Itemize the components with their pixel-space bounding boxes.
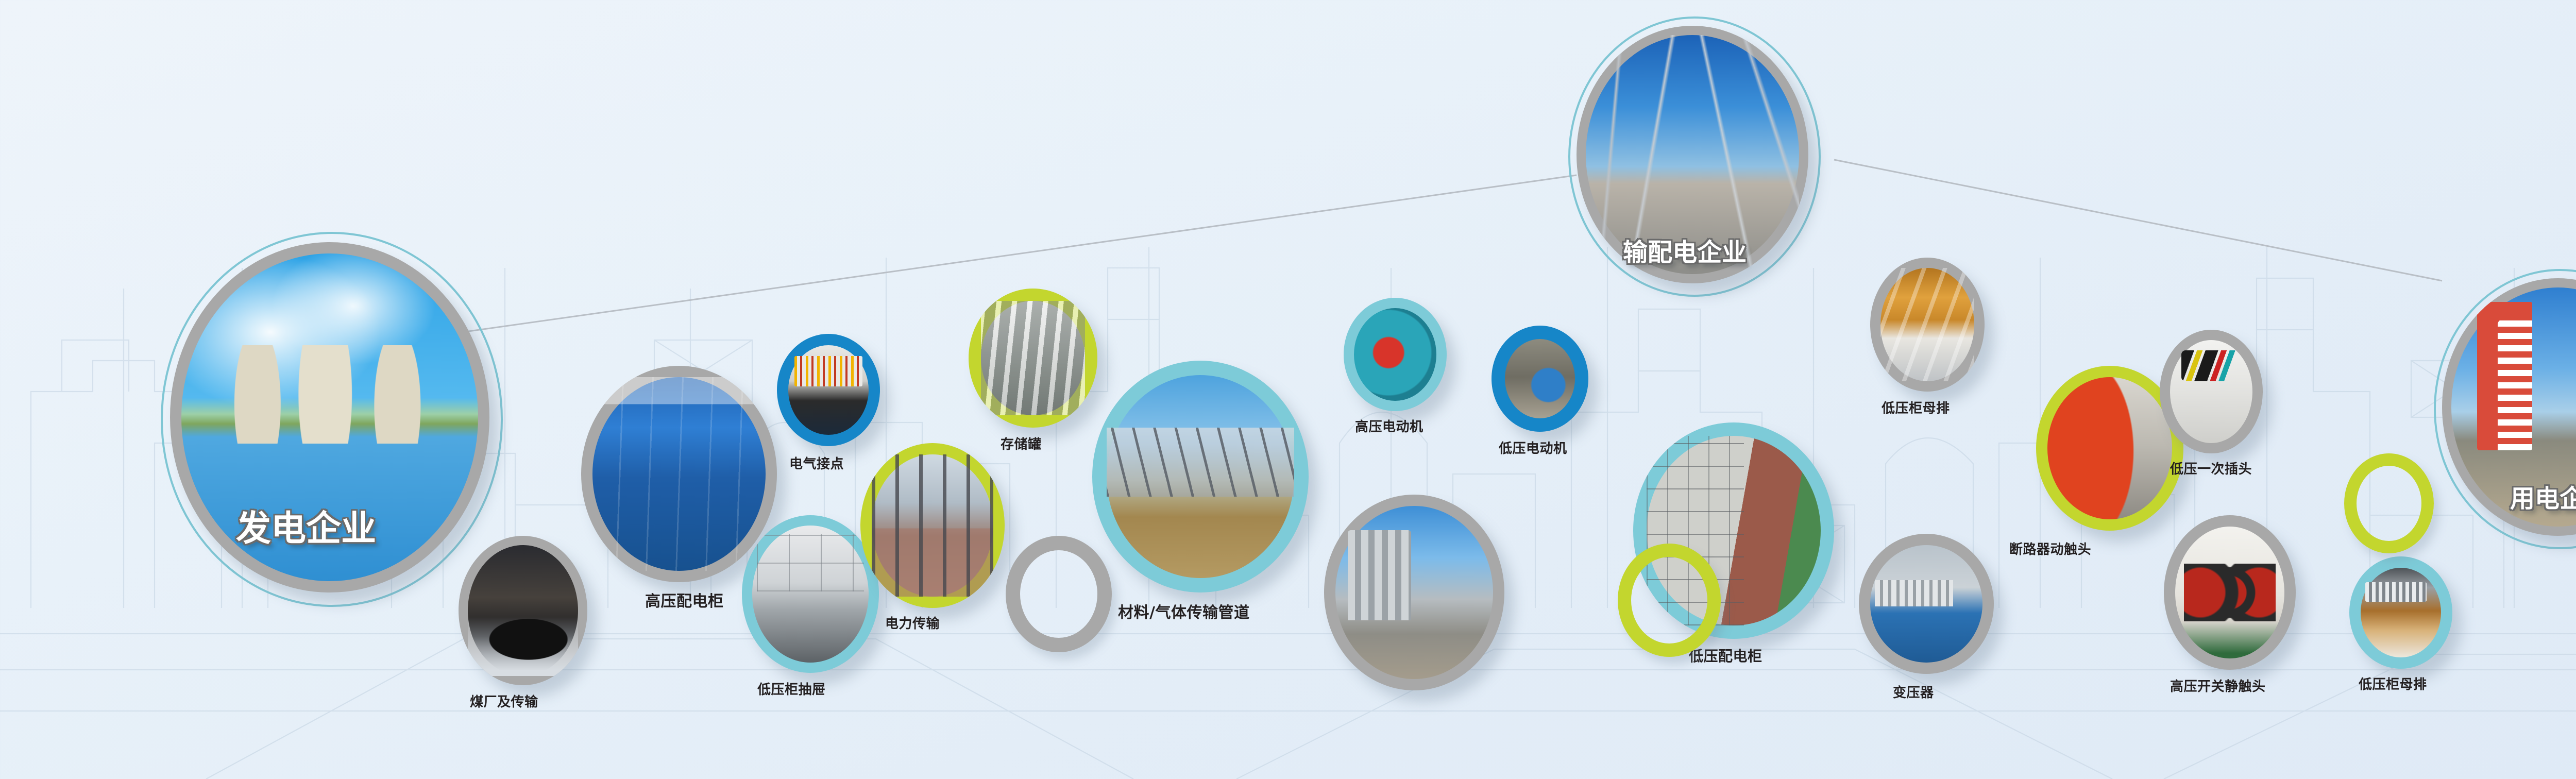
node-bubble[interactable] <box>2160 330 2263 453</box>
hero-label-transmission-distribution: 输配电企业 <box>1623 232 1747 268</box>
node-bubble[interactable] <box>777 334 880 446</box>
decor-ring-green-mid <box>1618 544 1721 657</box>
node-photo-refinery <box>1335 506 1493 679</box>
node-label-lv-cabinet-busbar-top: 低压柜母排 <box>1882 398 1950 417</box>
node-photo-lv-motor <box>1505 339 1575 418</box>
node-photo-primary-plug <box>2170 340 2252 443</box>
node-label-hv-switch-static-contact: 高压开关静触头 <box>2170 676 2266 695</box>
node-photo-pipe-rack <box>1107 375 1294 578</box>
hero-node-power-generation[interactable]: 发电企业 <box>170 242 489 592</box>
decor-ring-grey-left <box>1006 536 1112 652</box>
node-bubble[interactable] <box>459 536 587 685</box>
hero-label-power-consumer: 用电企业 <box>2510 478 2576 514</box>
node-photo-terminal-block <box>788 345 869 435</box>
node-bubble[interactable] <box>1324 495 1504 690</box>
node-photo-busbar-with-mcb <box>2361 568 2441 657</box>
node-label-breaker-moving-contact: 断路器动触头 <box>2009 539 2091 558</box>
node-label-hv-motor: 高压电动机 <box>1355 416 1423 435</box>
node-photo-switchyard <box>872 454 993 597</box>
node-bubble[interactable] <box>2164 515 2296 670</box>
node-bubble[interactable] <box>1092 361 1309 592</box>
node-label-coal-plant-transport: 煤厂及传输 <box>470 691 538 710</box>
node-label-transformer: 变压器 <box>1893 682 1934 701</box>
node-photo-hv-switchgear <box>592 377 766 571</box>
decor-ring-green-right <box>2344 453 2434 553</box>
node-photo-lv-drawer <box>752 526 869 663</box>
node-photo-static-contact <box>2175 527 2284 658</box>
infographic-canvas: 发电企业 输配电企业 用电企业 高压配电柜 煤厂及传输 低压柜 <box>0 0 2576 779</box>
node-photo-copper-busbar <box>1880 268 1974 381</box>
node-bubble[interactable] <box>1344 298 1447 411</box>
node-bubble[interactable] <box>742 515 879 673</box>
node-label-lv-cabinet-busbar-bottom: 低压柜母排 <box>2359 674 2427 693</box>
node-bubble[interactable] <box>969 289 1097 428</box>
node-photo-storage-tanks <box>981 301 1085 415</box>
node-bubble[interactable] <box>2349 556 2452 669</box>
node-bubble[interactable] <box>581 366 777 582</box>
node-photo-coal-conveyor <box>468 545 578 676</box>
node-bubble[interactable] <box>1859 534 1994 674</box>
node-bubble[interactable] <box>1870 258 1985 392</box>
node-label-power-transmission: 电力传输 <box>885 613 940 632</box>
hero-node-transmission-distribution[interactable]: 输配电企业 <box>1577 26 1808 283</box>
node-bubble[interactable] <box>1492 326 1588 432</box>
node-label-material-gas-pipeline: 材料/气体传输管道 <box>1118 600 1249 622</box>
node-label-lv-cabinet-drawer: 低压柜抽屉 <box>757 679 826 698</box>
node-label-storage-tank: 存储罐 <box>1001 434 1042 453</box>
node-photo-hv-motor <box>1354 308 1436 401</box>
hero-node-power-consumer[interactable]: 用电企业 <box>2442 278 2576 536</box>
node-label-hv-distribution-cabinet: 高压配电柜 <box>645 588 724 611</box>
node-label-lv-distribution-cabinet: 低压配电柜 <box>1689 645 1762 666</box>
node-label-lv-primary-plug: 低压一次插头 <box>2170 459 2252 478</box>
node-label-lv-motor: 低压电动机 <box>1499 438 1567 457</box>
hero-label-power-generation: 发电企业 <box>236 500 376 551</box>
node-photo-breaker-pole <box>2047 377 2172 519</box>
node-label-electrical-contact: 电气接点 <box>789 453 844 472</box>
node-bubble[interactable] <box>860 443 1005 608</box>
node-photo-transformer <box>1870 545 1982 663</box>
